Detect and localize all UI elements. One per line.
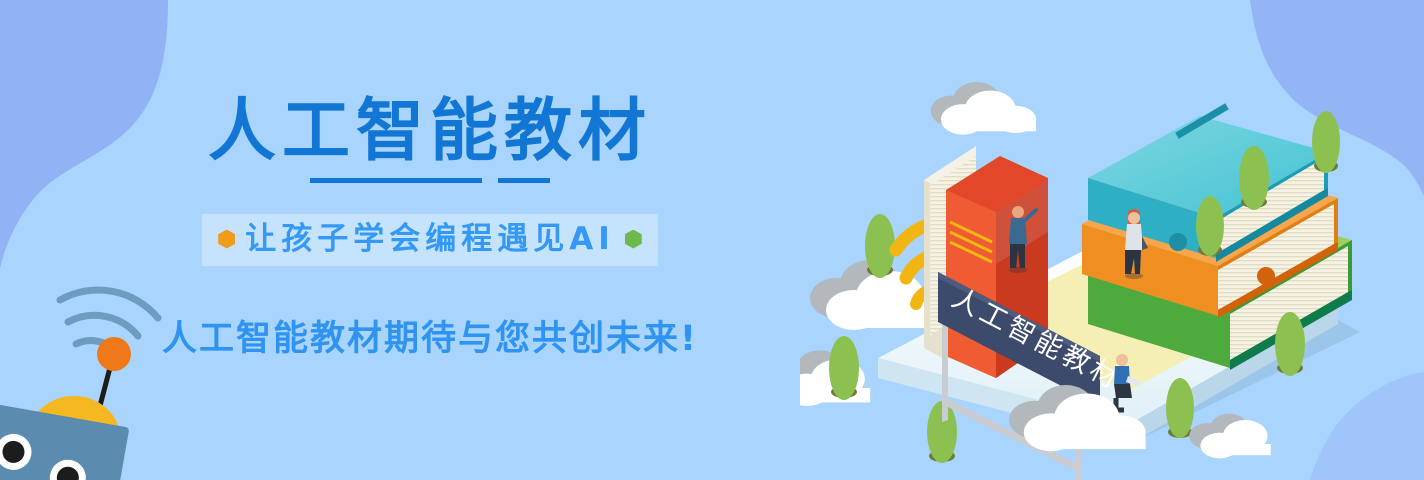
isometric-illustration: 人工智能教材 [800, 60, 1424, 480]
tree-icon [1239, 146, 1269, 210]
tree-icon [829, 336, 859, 400]
robot-antenna-ball [97, 337, 131, 371]
divider-long-dash [310, 178, 482, 183]
page-title: 人工智能教材 [0, 96, 860, 168]
tree-icon [1196, 196, 1224, 256]
tree-icon [1166, 378, 1194, 438]
ai-textbook-banner: 人工智能教材 让孩子学会编程遇见AI 人工智能教材期待与您共创未来! [0, 0, 1424, 480]
tree-icon [865, 214, 895, 278]
book-teal-dot [1169, 233, 1187, 251]
tree-icon [1312, 111, 1340, 173]
subtitle-pill: 让孩子学会编程遇见AI [202, 214, 658, 266]
robot-mascot [0, 238, 220, 480]
cloud-icon [1189, 414, 1271, 459]
hexagon-left-icon [218, 230, 235, 249]
cloud-icon [931, 82, 1036, 135]
divider-short-dash [498, 178, 550, 183]
book-orange-dot [1257, 267, 1275, 285]
title-divider [0, 178, 860, 183]
tree-icon [1275, 312, 1305, 376]
subtitle-text: 让孩子学会编程遇见AI [245, 221, 615, 257]
hexagon-right-icon [625, 230, 642, 249]
